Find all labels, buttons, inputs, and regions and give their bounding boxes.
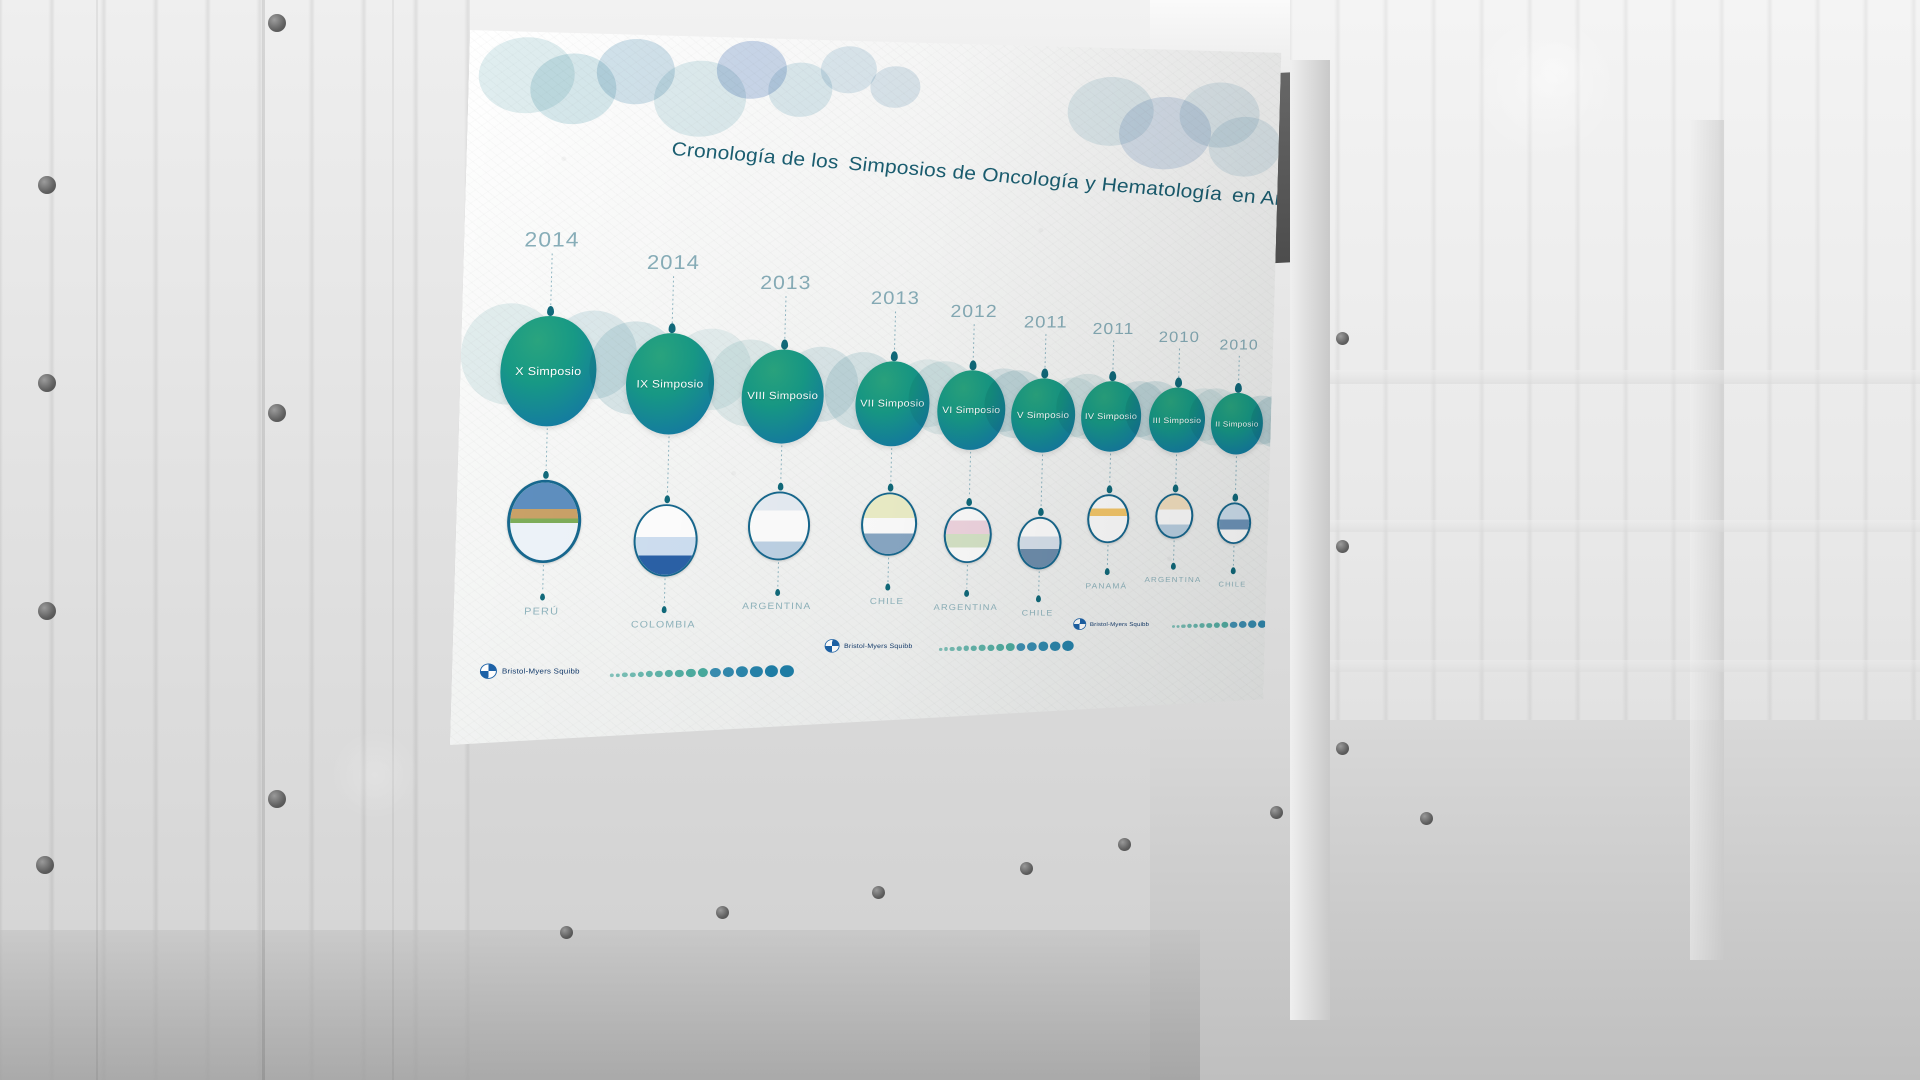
dotted-connector	[968, 452, 970, 497]
timeline-item[interactable]: 2014IX SimposioCOLOMBIA	[619, 251, 718, 630]
event-thumbnail[interactable]	[633, 504, 699, 576]
timeline-year: 2010	[1151, 329, 1208, 347]
symposium-label: X Simposio	[515, 365, 582, 378]
timeline-year: 2013	[858, 289, 933, 310]
bms-logo-text: Bristol-Myers Squibb	[844, 642, 913, 649]
connector-pin	[664, 495, 670, 503]
footer-dot-sequence	[939, 641, 1074, 651]
event-thumbnail[interactable]	[1155, 493, 1194, 538]
timeline-year: 2011	[1013, 312, 1078, 332]
connector-pin	[775, 589, 780, 596]
footer-dot	[675, 669, 684, 677]
symposium-oval[interactable]: IX Simposio	[625, 333, 716, 434]
dotted-connector	[666, 436, 669, 494]
dotted-connector	[545, 428, 547, 470]
bms-logo-text: Bristol-Myers Squibb	[1090, 621, 1149, 627]
dotted-connector	[1232, 546, 1234, 566]
symposium-oval[interactable]: I Simposio	[1270, 399, 1282, 455]
timeline-item[interactable]: 2014X SimposioPERÚ	[493, 227, 600, 617]
footer-dot	[616, 673, 621, 677]
connector-pin	[1234, 383, 1241, 393]
country-label: CHILE	[1005, 608, 1069, 617]
timeline-item[interactable]: 2010II SimposioCHILE	[1206, 338, 1265, 589]
thumbnail-ring	[943, 507, 993, 563]
timeline-year: 2009	[1273, 347, 1282, 362]
footer-dot	[646, 671, 653, 677]
connector-pin	[1170, 563, 1175, 570]
country-label: PERÚ	[1267, 564, 1282, 572]
connector-pin	[546, 306, 553, 316]
dotted-connector	[1173, 540, 1175, 561]
thumbnail-ring	[1017, 517, 1062, 569]
screenshot-stage: Cronología de losSimposios de Oncología …	[0, 0, 1920, 1080]
event-thumbnail-art	[1278, 492, 1282, 526]
dotted-connector	[1178, 349, 1180, 378]
footer-dot	[1027, 642, 1037, 651]
footer-dot	[979, 645, 986, 651]
footer-dot	[1258, 620, 1267, 628]
dotted-connector	[784, 296, 786, 339]
connector-pin	[969, 360, 976, 370]
event-thumbnail[interactable]	[943, 507, 993, 563]
event-thumbnail[interactable]	[1017, 517, 1062, 569]
thumbnail-ring	[1155, 493, 1194, 538]
footer-dot	[665, 670, 674, 678]
footer-dot	[622, 673, 627, 678]
footer-dot	[710, 668, 721, 678]
connector-pin	[966, 498, 972, 506]
thumbnail-ring	[633, 504, 699, 576]
connector-pin	[890, 351, 897, 361]
footer-dot	[1176, 625, 1180, 628]
dotted-connector	[1112, 340, 1114, 371]
footer-dot	[971, 645, 977, 651]
symposium-oval[interactable]: X Simposio	[499, 316, 598, 426]
connector-pin	[1109, 371, 1116, 381]
dotted-connector	[887, 558, 889, 582]
event-thumbnail[interactable]	[1087, 494, 1130, 543]
timeline-year: 2014	[629, 251, 718, 275]
connector-pin	[777, 483, 783, 491]
footer-dot	[963, 646, 969, 651]
country-label: ARGENTINA	[1144, 576, 1200, 584]
footer-dot	[686, 669, 696, 678]
footer-dot	[780, 665, 794, 678]
dotted-connector	[893, 311, 895, 351]
symposium-label: IX Simposio	[636, 378, 703, 391]
footer-dot	[1214, 622, 1220, 628]
dotted-connector	[777, 562, 779, 587]
dotted-connector	[1040, 454, 1042, 506]
connector-pin	[1232, 493, 1238, 501]
footer-dot	[1016, 643, 1025, 651]
dotted-connector	[1109, 454, 1111, 485]
footer-dot	[1248, 621, 1256, 628]
connector-pin	[1174, 378, 1181, 388]
event-thumbnail[interactable]	[1217, 502, 1252, 544]
footer-dot	[956, 646, 961, 651]
dotted-connector	[550, 254, 552, 306]
timeline-poster[interactable]: Cronología de losSimposios de Oncología …	[450, 30, 1282, 745]
connector-pin	[964, 590, 969, 597]
thumbnail-ring	[1276, 491, 1282, 529]
footer-dot	[629, 672, 635, 677]
symposium-label: VIII Simposio	[747, 391, 818, 402]
connector-pin	[1038, 508, 1044, 516]
connector-pin	[543, 471, 549, 479]
footer-dot	[1199, 623, 1205, 628]
dotted-connector	[1234, 456, 1236, 492]
dotted-connector	[1175, 454, 1177, 483]
connector-pin	[887, 483, 893, 491]
connector-pin	[1104, 568, 1109, 575]
timeline-year: 2013	[745, 273, 828, 295]
event-thumbnail[interactable]	[506, 480, 582, 563]
bms-logo: Bristol-Myers Squibb	[480, 664, 580, 679]
timeline-item[interactable]: 2010III SimposioARGENTINA	[1144, 329, 1207, 584]
footer-dot	[637, 672, 644, 678]
symposium-label: I Simposio	[1276, 423, 1282, 431]
timeline-item[interactable]: 2011IV SimposioPANAMÁ	[1076, 320, 1144, 591]
connector-pin	[539, 593, 544, 600]
footer-dot	[1038, 642, 1048, 651]
thumbnail-ring	[860, 492, 918, 555]
dotted-connector	[966, 565, 968, 589]
dotted-connector	[972, 324, 974, 360]
footer-dot	[1206, 623, 1212, 628]
thumbnail-ring	[506, 480, 582, 563]
dotted-connector	[1038, 571, 1040, 594]
event-thumbnail[interactable]	[747, 492, 811, 561]
dotted-connector	[1238, 356, 1240, 383]
timeline-item[interactable]: 2011V SimposioCHILE	[1005, 312, 1078, 617]
footer-dot	[944, 647, 948, 651]
timeline-item[interactable]: 2012VI SimposioARGENTINA	[932, 302, 1009, 612]
country-label: CHILE	[1206, 580, 1258, 588]
connector-pin	[780, 340, 787, 350]
footer-dot	[1230, 621, 1237, 628]
dotted-connector	[780, 445, 782, 481]
footer-dot	[736, 667, 748, 678]
event-thumbnail[interactable]	[1276, 491, 1282, 529]
footer-dot	[1050, 641, 1061, 651]
thumbnail-ring	[1217, 502, 1252, 544]
dotted-connector	[671, 276, 673, 323]
connector-pin	[668, 323, 675, 333]
footer-block: Bristol-Myers Squibb	[480, 664, 828, 679]
dotted-connector	[890, 448, 892, 482]
connector-pin	[1106, 485, 1112, 493]
bms-logo-mark-icon	[480, 664, 497, 679]
symposium-oval[interactable]: VIII Simposio	[740, 349, 825, 443]
footer-dot	[1172, 625, 1175, 628]
footer-block: Bristol-Myers Squibb	[1073, 618, 1282, 630]
footer-dot	[987, 644, 995, 651]
footer-dot	[1221, 622, 1228, 628]
connector-pin	[1035, 595, 1040, 602]
footer-dot	[697, 668, 707, 677]
footer-block: Bristol-Myers Squibb	[824, 639, 1103, 653]
footer-dot	[722, 667, 734, 677]
country-label: CHILE	[850, 597, 924, 607]
dotted-connector	[1106, 545, 1108, 567]
connector-pin	[1041, 368, 1048, 378]
dotted-connector	[542, 565, 544, 592]
footer-dot	[610, 674, 614, 678]
bms-logo-mark-icon	[824, 639, 839, 653]
poster-wrapper: Cronología de losSimposios de Oncología …	[0, 0, 1920, 1080]
timeline-year: 2012	[940, 302, 1009, 323]
connector-pin	[885, 584, 890, 591]
footer-dot	[1187, 624, 1192, 628]
footer-dot	[655, 670, 663, 677]
connector-pin	[1172, 484, 1178, 492]
footer-dot	[1062, 641, 1073, 651]
footer-dot	[939, 648, 943, 651]
connector-pin	[661, 606, 666, 613]
timeline-item[interactable]: 2013VIII SimposioARGENTINA	[736, 273, 828, 612]
dotted-connector	[1044, 334, 1046, 368]
country-label: PANAMÁ	[1076, 581, 1136, 590]
footer-dot	[1181, 624, 1185, 628]
thumbnail-ring	[1087, 494, 1130, 543]
footer-dot	[765, 665, 779, 677]
footer-dot	[750, 666, 763, 677]
footer-dot	[1193, 624, 1198, 628]
connector-pin	[1230, 567, 1235, 574]
footer-dot	[996, 644, 1004, 651]
event-thumbnail[interactable]	[860, 492, 918, 555]
timeline-year: 2014	[504, 227, 601, 251]
timeline-year: 2010	[1213, 338, 1265, 354]
footer-dot	[1006, 643, 1015, 651]
country-label: ARGENTINA	[736, 602, 818, 612]
dotted-connector	[663, 578, 665, 604]
footer-dot	[1239, 621, 1247, 628]
country-label: COLOMBIA	[619, 619, 707, 630]
timeline-item[interactable]: 2013VII SimposioCHILE	[850, 289, 933, 607]
bms-logo-mark-icon	[1073, 618, 1086, 630]
bms-logo-text: Bristol-Myers Squibb	[502, 667, 580, 675]
footer-dot-sequence	[1172, 620, 1267, 628]
country-label: ARGENTINA	[932, 603, 1000, 612]
thumbnail-ring	[747, 492, 811, 561]
footer-dot-sequence	[610, 665, 795, 678]
footer-dot	[950, 647, 955, 651]
bms-logo: Bristol-Myers Squibb	[824, 639, 912, 653]
bms-logo: Bristol-Myers Squibb	[1073, 618, 1149, 630]
timeline-year: 2011	[1083, 320, 1144, 339]
country-label: PERÚ	[493, 606, 589, 617]
